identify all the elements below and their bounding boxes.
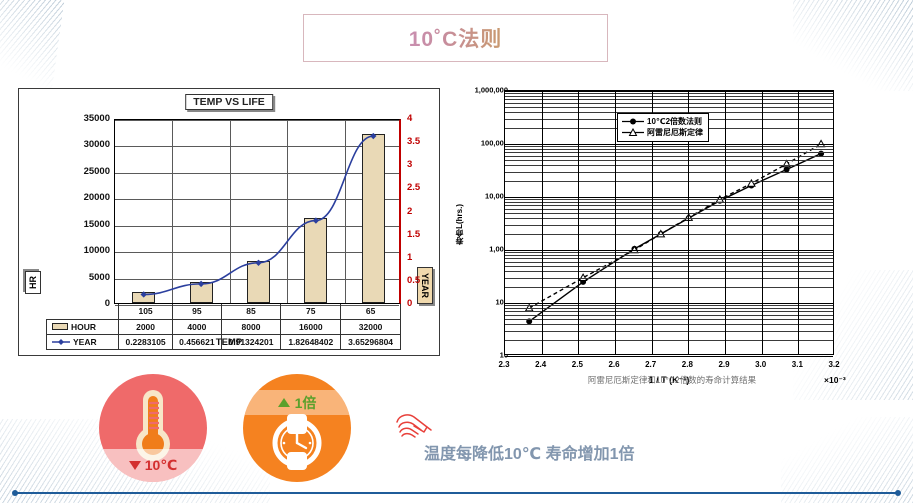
right-chart-x-tick: 2.5	[572, 360, 583, 369]
right-chart-x-tick: 2.3	[498, 360, 509, 369]
right-chart-x-tick: 3.1	[792, 360, 803, 369]
left-chart-y-tick: 30000	[70, 139, 110, 150]
gridline-h-minor	[505, 209, 833, 210]
slide-title-box: 10˚C法则	[303, 14, 608, 62]
gridline-h-minor	[505, 107, 833, 108]
right-chart-x-tick: 3.2	[828, 360, 839, 369]
gridline-h-minor	[505, 340, 833, 341]
table-cell: 4000	[173, 319, 221, 334]
gridline-h-major	[505, 356, 833, 357]
arrhenius-chart: 寿命L(hrs.) 101001,00010,000100,0001,000,0…	[452, 84, 892, 374]
gridline-h-minor	[505, 218, 833, 219]
gridline-h-minor	[505, 156, 833, 157]
left-chart-y2-tick: 0.5	[407, 275, 447, 286]
right-chart-x-tick: 2.8	[682, 360, 693, 369]
left-chart-title: TEMP VS LIFE	[185, 94, 273, 110]
left-chart-y2-tick: 1.5	[407, 229, 447, 240]
right-chart-y-tick: 1,000,000	[475, 86, 508, 95]
gridline-h-minor	[505, 181, 833, 182]
table-cell-temp: 95	[173, 304, 221, 319]
right-chart-x-tick: 2.4	[535, 360, 546, 369]
legend-label-1: 阿雷尼厄斯定律	[647, 127, 703, 138]
gridline-h-minor	[505, 305, 833, 306]
left-chart-y2-tick: 2.5	[407, 182, 447, 193]
right-chart-x-tick: 2.7	[645, 360, 656, 369]
table-cell-temp: 75	[281, 304, 341, 319]
decorative-hatch-bottom-right	[781, 417, 913, 503]
left-chart-y2-tick: 0	[407, 298, 447, 309]
gridline-h-minor	[505, 160, 833, 161]
left-chart-year-line	[115, 120, 402, 305]
gridline-h-minor	[505, 202, 833, 203]
gridline-h-minor	[505, 213, 833, 214]
bar-swatch-icon	[52, 323, 68, 330]
gridline-v	[578, 91, 579, 354]
left-chart-y2-tick: 4	[407, 113, 447, 124]
gridline-h-minor	[505, 93, 833, 94]
table-row-categories: 10595857565	[47, 304, 401, 319]
lifetime-badge-value: 1倍	[295, 393, 317, 413]
left-chart-y2-tick: 3.5	[407, 136, 447, 147]
lifetime-badge: 1倍	[243, 374, 351, 482]
temperature-badge-band: 10℃	[99, 449, 207, 482]
gridline-h-minor	[505, 149, 833, 150]
gridline-h-minor	[505, 205, 833, 206]
gridline-h-minor	[505, 225, 833, 226]
temperature-badge: 10℃	[99, 374, 207, 482]
gridline-h-minor	[505, 96, 833, 97]
gridline-v	[762, 91, 763, 354]
gridline-v	[615, 91, 616, 354]
gridline-h-minor	[505, 199, 833, 200]
footer-rule	[14, 492, 899, 494]
table-cell: 32000	[341, 319, 401, 334]
gridline-h-major	[505, 303, 833, 304]
footer-dot-left	[12, 490, 18, 496]
table-cell-temp: 85	[221, 304, 281, 319]
right-chart-caption: 阿雷尼厄斯定律和10°C2倍数的寿命计算结果	[452, 374, 892, 386]
gridline-h-minor	[505, 252, 833, 253]
gridline-h-minor	[505, 271, 833, 272]
gridline-h-major	[505, 144, 833, 145]
right-chart-plot-area: 10℃2倍数法则 阿雷尼厄斯定律	[504, 90, 834, 355]
gridline-h-major	[505, 250, 833, 251]
gridline-h-minor	[505, 311, 833, 312]
left-chart-y-tick: 5000	[70, 272, 110, 283]
legend-label-0: 10℃2倍数法则	[647, 116, 702, 127]
temp-vs-life-chart: TEMP VS LIFE HR YEAR 0500010000150002000…	[18, 88, 440, 356]
left-chart-plot-area	[114, 119, 401, 304]
filled-circle-icon	[622, 117, 644, 126]
left-chart-y-tick: 15000	[70, 219, 110, 230]
lifetime-badge-band: 1倍	[243, 390, 351, 415]
pointing-hand-icon	[394, 410, 436, 444]
left-chart-y-tick: 10000	[70, 245, 110, 256]
left-chart-y-tick: 25000	[70, 166, 110, 177]
right-chart-x-tick: 2.6	[608, 360, 619, 369]
gridline-h-minor	[505, 172, 833, 173]
gridline-h-minor	[505, 319, 833, 320]
left-chart-y2-tick: 2	[407, 206, 447, 217]
temperature-badge-value: 10℃	[145, 457, 178, 474]
table-row: HOUR2000400080001600032000	[47, 319, 401, 334]
arrow-up-icon	[278, 398, 290, 407]
gridline-h-minor	[505, 308, 833, 309]
gridline-h-minor	[505, 234, 833, 235]
gridline-v	[542, 91, 543, 354]
gridline-h-minor	[505, 152, 833, 153]
table-cell-temp: 65	[341, 304, 401, 319]
series-name: HOUR	[71, 322, 96, 332]
right-chart-x-tick: 3.0	[755, 360, 766, 369]
gridline-h-minor	[505, 331, 833, 332]
gridline-h-minor	[505, 287, 833, 288]
gridline-h-minor	[505, 103, 833, 104]
gridline-h-major	[505, 197, 833, 198]
series-line-0	[529, 154, 821, 322]
slide-canvas: 10˚C法则 TEMP VS LIFE HR YEAR 050001000015…	[0, 0, 913, 503]
gridline-h-minor	[505, 146, 833, 147]
summary-note: 温度每降低10℃ 寿命增加1倍	[424, 440, 635, 464]
gridline-v	[725, 91, 726, 354]
gridline-h-minor	[505, 165, 833, 166]
decorative-hatch-top-right	[793, 0, 913, 91]
right-chart-y-axis-label: 寿命L(hrs.)	[454, 204, 465, 245]
page-title: 10˚C法则	[409, 23, 503, 53]
left-chart-y2-tick: 1	[407, 252, 447, 263]
left-chart-x-axis-label: TEMP	[19, 337, 439, 348]
gridline-h-minor	[505, 266, 833, 267]
gridline-v	[798, 91, 799, 354]
gridline-h-minor	[505, 99, 833, 100]
open-triangle-icon	[622, 128, 644, 137]
arrow-down-icon	[129, 461, 141, 470]
legend-item-0: 10℃2倍数法则	[622, 116, 703, 127]
gridline-h-minor	[505, 255, 833, 256]
table-cell: 8000	[221, 319, 281, 334]
gridline-h-minor	[505, 324, 833, 325]
gridline-h-minor	[505, 262, 833, 263]
gridline-h-minor	[505, 278, 833, 279]
right-chart-x-tick: 2.9	[718, 360, 729, 369]
right-chart-legend: 10℃2倍数法则 阿雷尼厄斯定律	[617, 113, 709, 142]
table-cell: 2000	[119, 319, 173, 334]
legend-item-1: 阿雷尼厄斯定律	[622, 127, 703, 138]
left-chart-y-axis-label: HR	[25, 271, 41, 294]
gridline-h-minor	[505, 315, 833, 316]
left-chart-y-tick: 20000	[70, 192, 110, 203]
left-chart-y2-tick: 3	[407, 159, 447, 170]
left-chart-y-tick: 35000	[70, 113, 110, 124]
table-row-key: HOUR	[47, 319, 119, 334]
gridline-h-major	[505, 91, 833, 92]
table-cell-temp: 105	[119, 304, 173, 319]
gridline-h-minor	[505, 258, 833, 259]
table-cell: 16000	[281, 319, 341, 334]
footer-dot-right	[895, 490, 901, 496]
